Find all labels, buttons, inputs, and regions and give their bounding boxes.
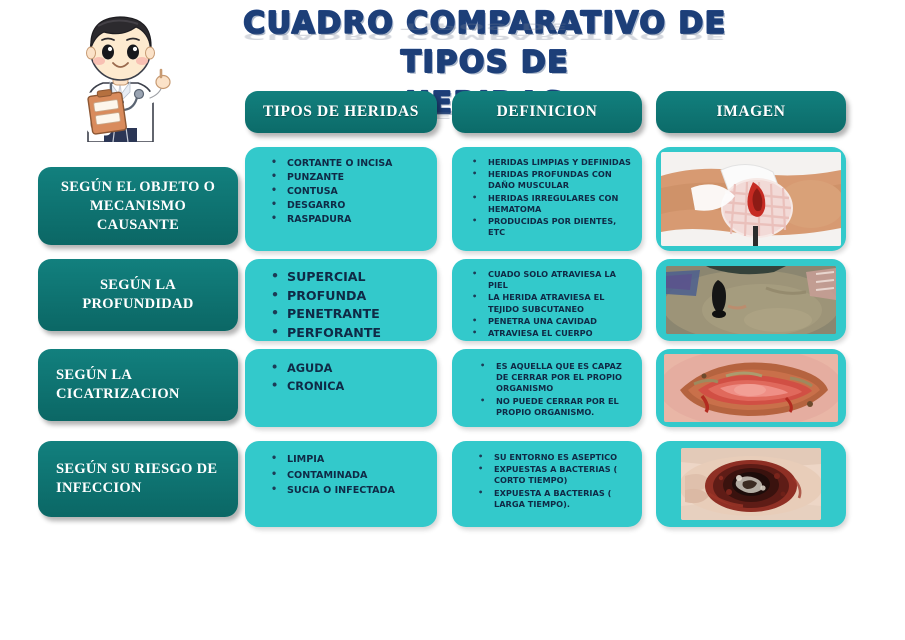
doctor-illustration	[58, 6, 183, 142]
abdomen-penetrating-wound-photo	[666, 266, 836, 334]
tipos-list-row-2: SUPERCIAL PROFUNDA PENETRANTE PERFORANTE	[271, 268, 427, 341]
list-item: CONTUSA	[271, 185, 427, 198]
list-item: DESGARRO	[271, 199, 427, 212]
column-header-tipos: TIPOS DE HERIDAS	[245, 91, 437, 133]
tipos-cell-row-2: SUPERCIAL PROFUNDA PENETRANTE PERFORANTE	[245, 259, 437, 341]
list-item: CRONICA	[271, 378, 427, 395]
tipos-list-row-4: LIMPIA CONTAMINADA SUCIA O INFECTADA	[271, 453, 427, 499]
definicion-cell-row-1: HERIDAS LIMPIAS Y DEFINIDAS HERIDAS PROF…	[452, 147, 642, 251]
list-item: SUPERCIAL	[271, 268, 427, 286]
list-item: HERIDAS PROFUNDAS CON DAÑO MUSCULAR	[472, 169, 634, 191]
list-item: CONTAMINADA	[271, 469, 427, 484]
list-item: PENETRA UNA CAVIDAD	[472, 316, 634, 327]
definicion-list-row-2: CUADO SOLO ATRAVIESA LA PIEL LA HERIDA A…	[472, 269, 634, 339]
imagen-cell-row-4	[656, 441, 846, 527]
tipos-list-row-1: CORTANTE O INCISA PUNZANTE CONTUSA DESGA…	[271, 157, 427, 226]
page-title-line-1: CUADRO COMPARATIVO DE TIPOS DE CUADRO CO…	[205, 4, 765, 82]
list-item: PROFUNDA	[271, 287, 427, 305]
list-item: PRODUCIDAS POR DIENTES, ETC	[472, 216, 634, 238]
list-item: AGUDA	[271, 360, 427, 377]
definicion-cell-row-3: ES AQUELLA QUE ES CAPAZ DE CERRAR POR EL…	[452, 349, 642, 427]
category-label-profundidad: SEGÚN LA PROFUNDIDAD	[38, 259, 238, 331]
definicion-list-row-3: ES AQUELLA QUE ES CAPAZ DE CERRAR POR EL…	[472, 361, 634, 418]
open-red-wound-photo	[664, 354, 838, 422]
list-item: CORTANTE O INCISA	[271, 157, 427, 170]
column-header-imagen: IMAGEN	[656, 91, 846, 133]
list-item: LIMPIA	[271, 453, 427, 468]
list-item: EXPUESTA A BACTERIAS ( LARGA TIEMPO).	[478, 488, 634, 510]
tipos-list-row-3: AGUDA CRONICA	[271, 360, 427, 395]
list-item: PERFORANTE	[271, 324, 427, 342]
definicion-list-row-4: SU ENTORNO ES ASEPTICO EXPUESTAS A BACTE…	[472, 452, 634, 510]
definicion-cell-row-2: CUADO SOLO ATRAVIESA LA PIEL LA HERIDA A…	[452, 259, 642, 341]
list-item: HERIDAS IRREGULARES CON HEMATOMA	[472, 193, 634, 215]
imagen-cell-row-1	[656, 147, 846, 251]
list-item: ATRAVIESA EL CUERPO	[472, 328, 634, 339]
definicion-list-row-1: HERIDAS LIMPIAS Y DEFINIDAS HERIDAS PROF…	[472, 157, 634, 238]
category-label-objeto-mecanismo: SEGÚN EL OBJETO O MECANISMO CAUSANTE	[38, 167, 238, 245]
list-item: RASPADURA	[271, 213, 427, 226]
list-item: PENETRANTE	[271, 305, 427, 323]
tipos-cell-row-4: LIMPIA CONTAMINADA SUCIA O INFECTADA	[245, 441, 437, 527]
definicion-cell-row-4: SU ENTORNO ES ASEPTICO EXPUESTAS A BACTE…	[452, 441, 642, 527]
infected-necrotic-hand-wound-photo	[681, 448, 821, 520]
list-item: SUCIA O INFECTADA	[271, 484, 427, 499]
list-item: NO PUEDE CERRAR POR EL PROPIO ORGANISMO.	[480, 396, 634, 418]
imagen-cell-row-2	[656, 259, 846, 341]
tipos-cell-row-3: AGUDA CRONICA	[245, 349, 437, 427]
category-label-cicatrizacion: SEGÚN LA CICATRIZACION	[38, 349, 238, 421]
list-item: SU ENTORNO ES ASEPTICO	[478, 452, 634, 463]
column-header-definicion: DEFINICION	[452, 91, 642, 133]
tipos-cell-row-1: CORTANTE O INCISA PUNZANTE CONTUSA DESGA…	[245, 147, 437, 251]
bandaged-bleeding-hand-photo	[661, 152, 841, 246]
imagen-cell-row-3	[656, 349, 846, 427]
list-item: LA HERIDA ATRAVIESA EL TEJIDO SUBCUTANEO	[472, 292, 634, 314]
category-label-riesgo-infeccion: SEGÚN SU RIESGO DE INFECCION	[38, 441, 238, 517]
doctor-illustration-svg	[58, 6, 183, 142]
list-item: ES AQUELLA QUE ES CAPAZ DE CERRAR POR EL…	[480, 361, 634, 395]
list-item: PUNZANTE	[271, 171, 427, 184]
list-item: CUADO SOLO ATRAVIESA LA PIEL	[472, 269, 634, 291]
list-item: EXPUESTAS A BACTERIAS ( CORTO TIEMPO)	[478, 464, 634, 486]
page-title-line-1-text: CUADRO COMPARATIVO DE TIPOS DE	[243, 6, 727, 80]
list-item: HERIDAS LIMPIAS Y DEFINIDAS	[472, 157, 634, 168]
